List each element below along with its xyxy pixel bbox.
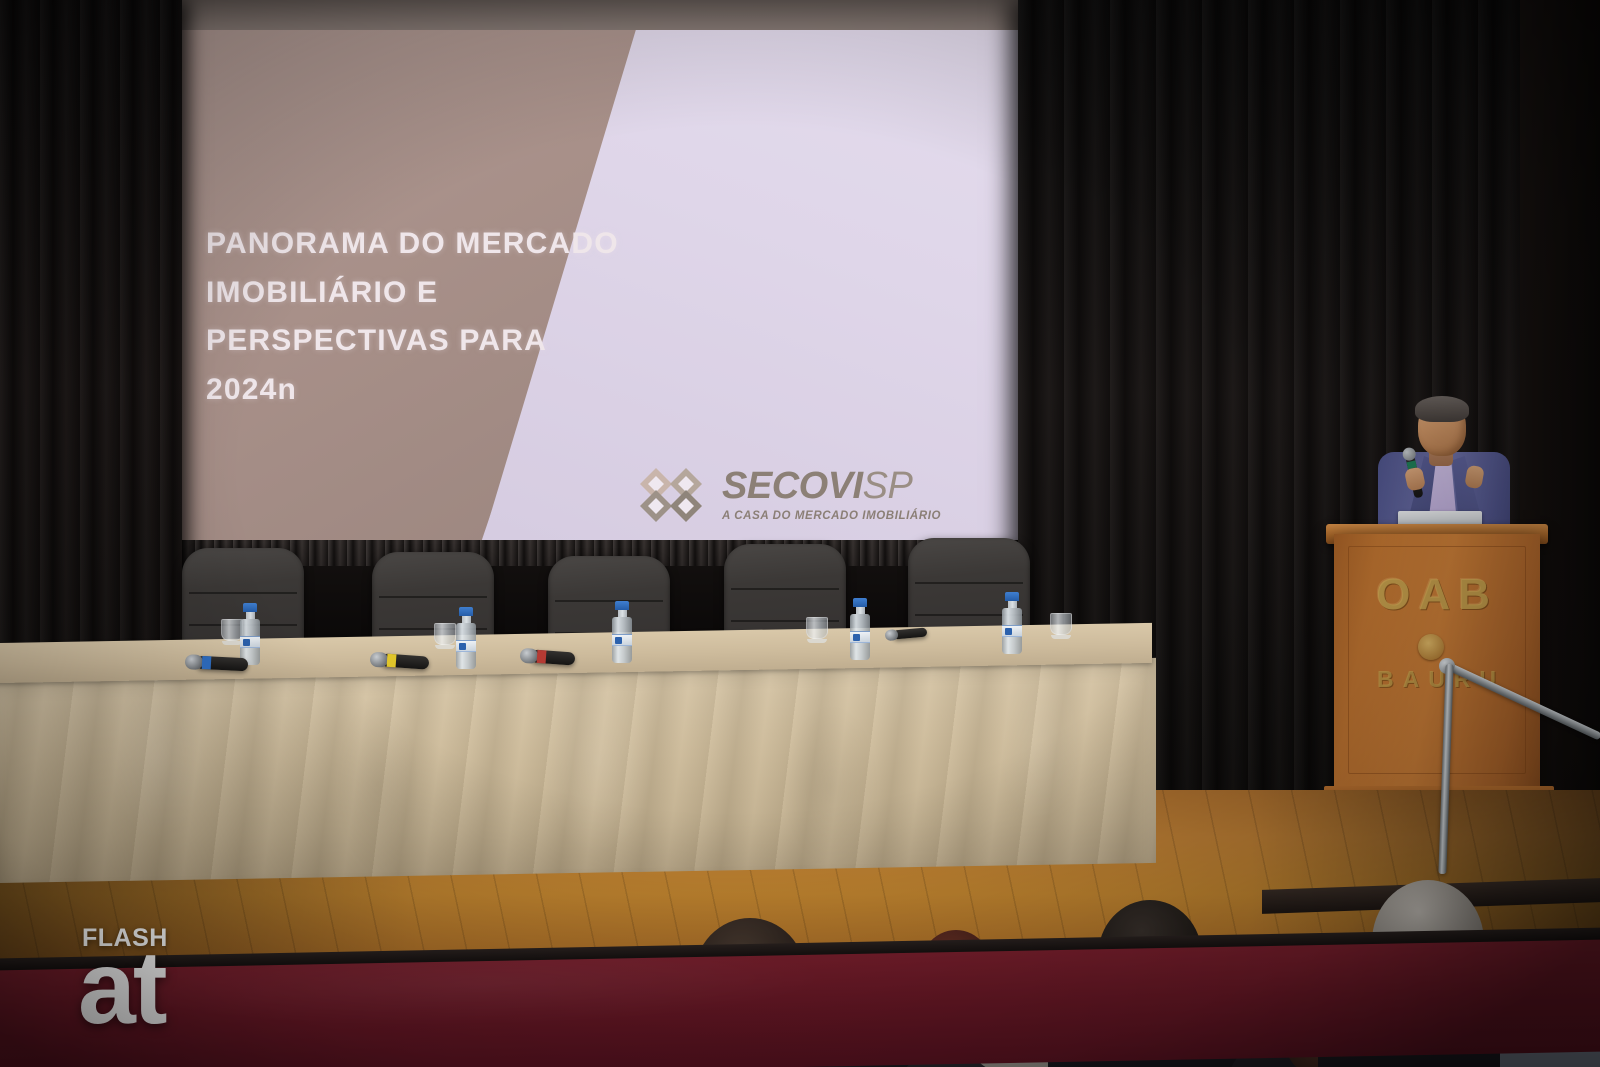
drinking-glass [434, 623, 456, 653]
slide-title-line-2: IMOBILIÁRIO E [206, 269, 656, 318]
table-skirt-texture [0, 658, 1156, 883]
secovi-sp-suffix: SP [863, 465, 913, 507]
slide-title-line-1: PANORAMA DO MERCADO [206, 220, 656, 269]
microphone-head-icon [185, 654, 204, 670]
presentation-slide: PANORAMA DO MERCADO IMOBILIÁRIO E PERSPE… [176, 30, 1026, 540]
secovi-word: SECOVI [722, 465, 863, 507]
microphone-band [202, 656, 212, 669]
drinking-glass [1050, 613, 1072, 643]
projection-screen: PANORAMA DO MERCADO IMOBILIÁRIO E PERSPE… [176, 0, 1026, 588]
conference-photo-scene: PANORAMA DO MERCADO IMOBILIÁRIO E PERSPE… [0, 0, 1600, 1067]
water-bottle [456, 607, 476, 669]
table-microphone [196, 656, 249, 672]
water-bottle [240, 603, 260, 665]
secovi-logo: SECOVISP A CASA DO MERCADO IMOBILIÁRIO [638, 442, 988, 540]
secovi-logo-text: SECOVISP A CASA DO MERCADO IMOBILIÁRIO [722, 467, 941, 522]
oab-emblem-icon [1418, 634, 1444, 660]
water-bottle [612, 601, 632, 663]
podium-oab-label: OAB [1352, 570, 1522, 620]
water-bottle [850, 598, 870, 660]
drinking-glass [806, 617, 828, 647]
speaker-hair [1415, 396, 1469, 422]
secovi-wordmark: SECOVISP [722, 467, 941, 505]
slide-title: PANORAMA DO MERCADO IMOBILIÁRIO E PERSPE… [206, 220, 656, 414]
water-bottle [1002, 592, 1022, 654]
secovi-tagline: A CASA DO MERCADO IMOBILIÁRIO [722, 510, 941, 522]
microphone-band [387, 654, 397, 668]
slide-title-line-4: 2024n [206, 366, 656, 415]
slide-title-line-3: PERSPECTIVAS PARA [206, 317, 656, 366]
secovi-diamond-icon [638, 464, 710, 526]
head-table-skirt [0, 658, 1156, 883]
left-stage-curtain [0, 0, 182, 700]
microphone-band [537, 650, 547, 664]
